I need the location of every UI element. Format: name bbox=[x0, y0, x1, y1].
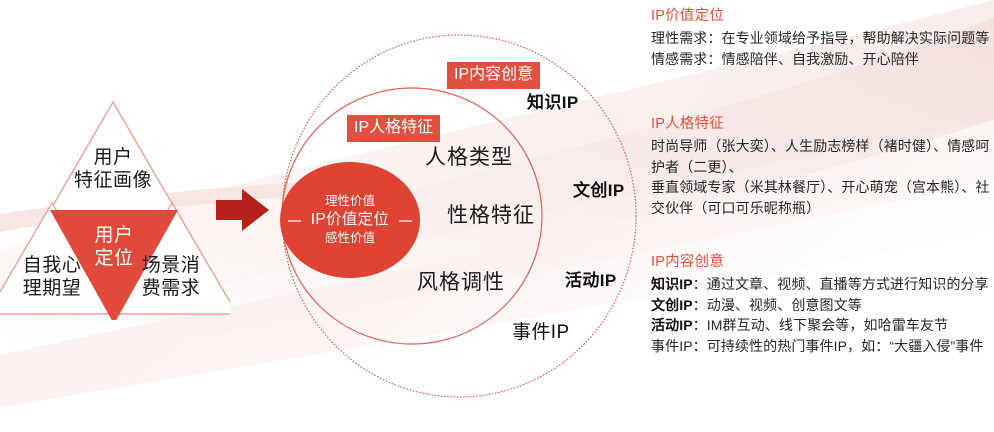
badge-ip-personality-traits: IP人格特征 bbox=[347, 115, 440, 142]
middle-item-character-traits: 性格特征 bbox=[447, 203, 535, 229]
outer-item-knowledge-ip: 知识IP bbox=[527, 92, 579, 114]
line-bold-prefix: 活动IP bbox=[651, 317, 693, 333]
badge-ip-content-creativity: IP内容创意 bbox=[447, 62, 540, 89]
outer-item-cultural-ip: 文创IP bbox=[573, 180, 625, 202]
panel-section-ip-value: IP价值定位 理性需求：在专业领域给予指导，帮助解决实际问题等 情感需求：情感陪… bbox=[651, 6, 991, 69]
triangle-center-label: 用户 定位 bbox=[64, 224, 164, 270]
section-line: 知识IP：通过文章、视频、直播等方式进行知识的分享 bbox=[651, 274, 991, 295]
diagram-canvas: 用户 特征画像 自我心 理期望 场景消 费需求 用户 定位 IP内容创意 IP人… bbox=[0, 0, 994, 432]
line-text: ：IM群互动、线下聚会等，如哈雷车友节 bbox=[693, 317, 948, 333]
outer-item-activity-ip: 活动IP bbox=[565, 270, 617, 292]
section-heading-ip-value: IP价值定位 bbox=[651, 6, 991, 26]
middle-item-personality-type: 人格类型 bbox=[425, 145, 513, 171]
panel-section-ip-content: IP内容创意 知识IP：通过文章、视频、直播等方式进行知识的分享 文创IP：动漫… bbox=[651, 252, 991, 356]
section-line: 垂直领域专家（米其林餐厅）、开心萌宠（宫本熊）、社交伙伴（可口可乐昵称瓶） bbox=[651, 177, 991, 218]
core-emotional-value-label: 感性价值 bbox=[325, 231, 375, 246]
ip-concentric-circles: IP内容创意 IP人格特征 理性价值 IP价值定位 感性价值 人格类型 性格特征… bbox=[262, 10, 652, 422]
line-bold-prefix: 知识IP bbox=[651, 276, 693, 292]
panel-section-ip-personality: IP人格特征 时尚导师（张大奕）、人生励志榜样（褚时健）、情感呵护者（二更）、 … bbox=[651, 114, 991, 218]
user-positioning-triangle-group: 用户 特征画像 自我心 理期望 场景消 费需求 用户 定位 bbox=[0, 96, 230, 320]
outer-item-event-ip: 事件IP bbox=[512, 322, 570, 344]
description-panel: IP价值定位 理性需求：在专业领域给予指导，帮助解决实际问题等 情感需求：情感陪… bbox=[651, 4, 991, 428]
line-text: ：通过文章、视频、直播等方式进行知识的分享 bbox=[693, 276, 989, 292]
core-ip-value-label: IP价值定位 bbox=[311, 209, 389, 231]
ip-value-core-circle: 理性价值 IP价值定位 感性价值 bbox=[280, 162, 420, 278]
middle-item-style-tone: 风格调性 bbox=[417, 270, 505, 296]
section-heading-ip-content: IP内容创意 bbox=[651, 252, 991, 272]
line-bold-prefix: 文创IP bbox=[651, 297, 693, 313]
section-line: 时尚导师（张大奕）、人生励志榜样（褚时健）、情感呵护者（二更）、 bbox=[651, 136, 991, 177]
section-line: 情感需求：情感陪伴、自我激励、开心陪伴 bbox=[651, 49, 991, 70]
section-line: 活动IP：IM群互动、线下聚会等，如哈雷车友节 bbox=[651, 315, 991, 336]
section-line: 文创IP：动漫、视频、创意图文等 bbox=[651, 295, 991, 316]
section-line: 理性需求：在专业领域给予指导，帮助解决实际问题等 bbox=[651, 28, 991, 49]
triangle-top-label: 用户 特征画像 bbox=[53, 146, 173, 192]
core-dash-left bbox=[288, 220, 301, 222]
section-line: 事件IP：可持续性的热门事件IP，如：“大疆入侵”事件 bbox=[651, 336, 991, 357]
core-rational-value-label: 理性价值 bbox=[325, 194, 375, 209]
line-text: ：动漫、视频、创意图文等 bbox=[693, 297, 862, 313]
core-dash-right bbox=[399, 220, 412, 222]
section-heading-ip-personality: IP人格特征 bbox=[651, 114, 991, 134]
